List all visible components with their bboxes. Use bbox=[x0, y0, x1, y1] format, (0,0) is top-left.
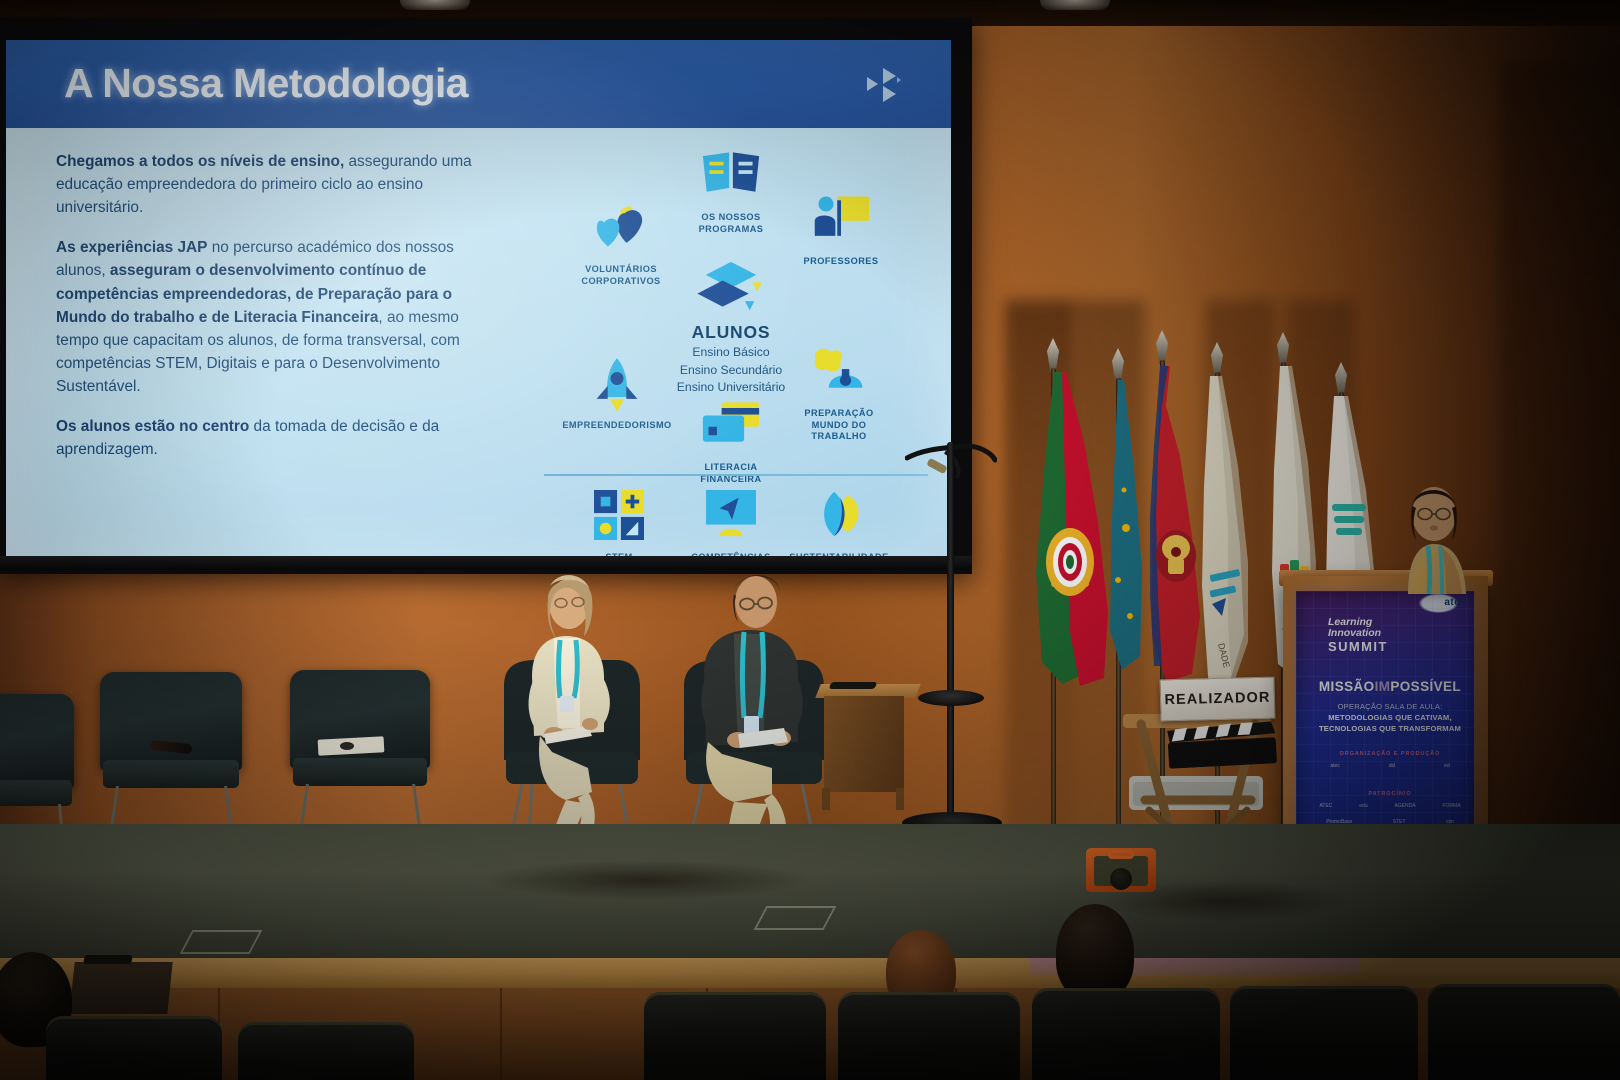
realizador-sign: REALIZADOR bbox=[1160, 677, 1276, 722]
icon-cell-sustentabilidade: SUSTENTABILIDADE bbox=[774, 490, 904, 563]
briefcase-person-icon bbox=[774, 346, 904, 402]
side-table bbox=[818, 684, 918, 810]
slide-icon-grid: ALUNOS Ensino Básico Ensino Secundário E… bbox=[526, 144, 936, 554]
podium-logo: edu bbox=[1359, 803, 1367, 809]
ceiling-light bbox=[400, 0, 470, 10]
ceiling-light bbox=[1040, 0, 1110, 10]
podium-headline-strong: MISSÃO bbox=[1319, 679, 1375, 694]
audience-seat[interactable] bbox=[46, 1016, 222, 1080]
podium-section-label: PATROCÍNIO bbox=[1306, 791, 1474, 797]
podium-logo-row: atec idd ed bbox=[1306, 763, 1474, 769]
podium-logo-row: ATEC edu AGENDA FORMA bbox=[1306, 803, 1474, 809]
slide-text-run: Os alunos estão no centro bbox=[56, 418, 249, 435]
audience-seat[interactable] bbox=[1230, 986, 1418, 1080]
orange-equipment-case bbox=[1086, 848, 1156, 892]
icon-label-professores: PROFESSORES bbox=[776, 256, 906, 268]
rocket-icon bbox=[552, 358, 682, 414]
podium-headline-dim: IM bbox=[1375, 679, 1391, 694]
audience-seat[interactable] bbox=[1428, 984, 1620, 1080]
icon-cell-professores: PROFESSORES bbox=[776, 194, 906, 268]
leaf-drop-icon bbox=[774, 490, 904, 546]
podium-headline: MISSÃOIMPOSSÍVEL bbox=[1306, 679, 1474, 694]
realizador-sign-label: REALIZADOR bbox=[1164, 690, 1270, 709]
clapperboard bbox=[1167, 721, 1277, 769]
projection-screen: A Nossa Metodologia Chegamos a todos os … bbox=[0, 18, 972, 574]
icon-label-voluntarios: VOLUNTÁRIOSCORPORATIVOS bbox=[556, 264, 686, 287]
icon-label-empreendedorismo: EMPREENDEDORISMO bbox=[552, 420, 682, 432]
lis-line-3: SUMMIT bbox=[1328, 639, 1446, 654]
icon-cell-preparacao: PREPARAÇÃOMUNDO DOTRABALHO bbox=[774, 346, 904, 443]
podium-headline-rest: POSSÍVEL bbox=[1390, 679, 1461, 694]
podium-logo: FORMA bbox=[1443, 803, 1461, 809]
podium-logo: AGENDA bbox=[1395, 803, 1416, 809]
audience-seat[interactable] bbox=[644, 992, 826, 1080]
speaker-at-podium bbox=[1372, 470, 1492, 605]
icon-label-preparacao: PREPARAÇÃOMUNDO DOTRABALHO bbox=[774, 408, 904, 443]
stage-scene: A Nossa Metodologia Chegamos a todos os … bbox=[0, 0, 1620, 1080]
podium-logo: ed bbox=[1444, 763, 1450, 769]
slide-paragraph-p1: Chegamos a todos os níveis de ensino, as… bbox=[56, 150, 476, 219]
podium-logo: ATEC bbox=[1319, 803, 1332, 809]
front-lectern bbox=[69, 962, 172, 1014]
slide-body-text: Chegamos a todos os níveis de ensino, as… bbox=[56, 150, 476, 478]
grid-squares-icon bbox=[554, 490, 684, 546]
audience-seat[interactable] bbox=[1032, 988, 1220, 1080]
podium-subline-2: METODOLOGIAS QUE CATIVAM, bbox=[1328, 713, 1452, 722]
microphone-stand-pole bbox=[947, 442, 954, 832]
slide-surface: A Nossa Metodologia Chegamos a todos os … bbox=[6, 40, 951, 563]
ja-triangle-logo bbox=[863, 66, 903, 104]
teacher-board-icon bbox=[776, 194, 906, 250]
podium-section-label: ORGANIZAÇÃO E PRODUÇÃO bbox=[1306, 751, 1474, 757]
microphone-stand-disc bbox=[918, 690, 984, 706]
audience-seat[interactable] bbox=[238, 1022, 414, 1080]
lectern-device bbox=[83, 955, 133, 964]
icon-cell-stem: STEM bbox=[554, 490, 684, 563]
object-on-paper bbox=[340, 742, 354, 750]
podium-subline: OPERAÇÃO SALA DE AULA: METODOLOGIAS QUE … bbox=[1306, 701, 1474, 734]
alunos-title: ALUNOS bbox=[666, 322, 796, 343]
shadow bbox=[480, 860, 810, 900]
podium-subline-1: OPERAÇÃO SALA DE AULA: bbox=[1338, 702, 1443, 711]
audience-seat[interactable] bbox=[838, 992, 1020, 1080]
slide-title: A Nossa Metodologia bbox=[64, 60, 468, 107]
podium-logo: idd bbox=[1389, 763, 1396, 769]
slide-divider bbox=[544, 474, 928, 476]
slide-paragraph-p2: As experiências JAP no percurso académic… bbox=[56, 236, 476, 398]
icon-cell-empreendedorismo: EMPREENDEDORISMO bbox=[552, 358, 682, 432]
slide-text-run: As experiências JAP bbox=[56, 239, 207, 256]
microphone-on-table[interactable] bbox=[829, 682, 878, 689]
learning-innovation-summit-logo: Learning Innovation SUMMIT bbox=[1328, 617, 1446, 661]
podium-subline-3: TECNOLOGIAS QUE TRANSFORMAM bbox=[1319, 724, 1461, 733]
floor-marker bbox=[754, 906, 837, 930]
slide-paragraph-p3: Os alunos estão no centro da tomada de d… bbox=[56, 415, 476, 461]
slide-text-run: Chegamos a todos os níveis de ensino, bbox=[56, 153, 344, 170]
podium-logo: atec bbox=[1330, 763, 1339, 769]
floor-marker bbox=[180, 930, 263, 954]
lis-line-2: Innovation bbox=[1328, 628, 1446, 639]
stage-floor bbox=[0, 824, 1620, 980]
